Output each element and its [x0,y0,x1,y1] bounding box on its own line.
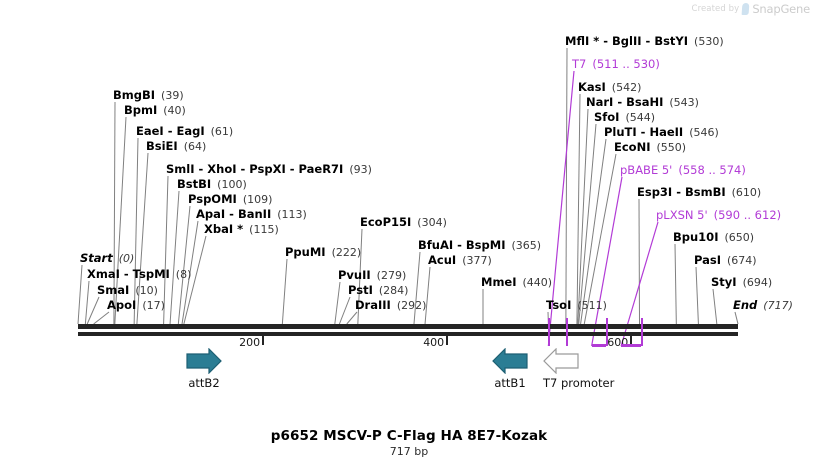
feature-range: (558 .. 574) [672,163,746,177]
enzyme-label[interactable]: TsoI(511) [546,299,607,312]
enzyme-name: BpmI [124,103,157,117]
axis-tick [262,336,264,345]
enzyme-label[interactable]: BsiEI(64) [146,140,206,153]
enzyme-position: (304) [411,216,447,229]
enzyme-label[interactable]: PasI(674) [694,254,757,267]
enzyme-label[interactable]: MflI * - BglII - BstYI(530) [565,35,724,48]
enzyme-label[interactable]: AcuI(377) [428,254,492,267]
enzyme-label[interactable]: EaeI - EagI(61) [136,125,233,138]
enzyme-name: XbaI * [204,222,243,236]
arrow-glyph-icon [543,348,579,374]
enzyme-position: (93) [343,163,372,176]
enzyme-label[interactable]: SmlI - XhoI - PspXI - PaeR7I(93) [166,163,372,176]
enzyme-name: ApoI [107,298,136,312]
feature-arrow-attb2[interactable]: attB2 [186,348,222,390]
enzyme-position: (17) [136,299,165,312]
enzyme-name: BstBI [177,177,211,191]
feature-arrow-label: attB2 [186,376,222,390]
enzyme-position: (377) [456,254,492,267]
enzyme-name: PluTI - HaeII [604,125,683,139]
feature-boundary-mark [606,318,608,346]
enzyme-name: MflI * - BglII - BstYI [565,34,688,48]
feature-label[interactable]: T7(511 .. 530) [572,58,660,70]
enzyme-label[interactable]: NarI - BsaHI(543) [586,96,699,109]
enzyme-position: (284) [373,284,409,297]
enzyme-position: (64) [178,140,207,153]
enzyme-name: PpuMI [285,245,326,259]
enzyme-name: EcoP15I [360,215,411,229]
enzyme-name: SmaI [97,283,129,297]
feature-range: (511 .. 530) [586,57,660,71]
enzyme-label[interactable]: ApaI - BanII(113) [196,208,307,221]
enzyme-name: Start [80,251,113,265]
enzyme-label[interactable]: EcoP15I(304) [360,216,447,229]
enzyme-name: TsoI [546,298,571,312]
enzyme-name: PasI [694,253,721,267]
feature-label[interactable]: pBABE 5'(558 .. 574) [620,164,746,176]
enzyme-position: (674) [721,254,757,267]
enzyme-name: NarI - BsaHI [586,95,663,109]
axis-tick-label: 200 [239,336,262,349]
feature-name: pLXSN 5' [656,208,708,222]
enzyme-position: (292) [391,299,427,312]
watermark-created-by-label: Created by [692,4,740,14]
enzyme-label[interactable]: PpuMI(222) [285,246,361,259]
enzyme-position: (546) [683,126,719,139]
feature-arrow-t7-promoter[interactable]: T7 promoter [543,348,614,390]
enzyme-position: (109) [237,193,273,206]
enzyme-position: (113) [271,208,307,221]
snapgene-watermark: Created by SnapGene [692,2,810,16]
enzyme-position: (61) [205,125,234,138]
enzyme-position: (550) [650,141,686,154]
enzyme-name: EcoNI [614,140,650,154]
enzyme-label[interactable]: SfoI(544) [594,111,655,124]
page-title: p6652 MSCV-P C-Flag HA 8E7-Kozak [0,428,818,444]
enzyme-label[interactable]: End(717) [733,299,793,312]
enzyme-name: KasI [578,80,606,94]
enzyme-label[interactable]: StyI(694) [711,276,772,289]
enzyme-position: (222) [326,246,362,259]
enzyme-name: End [733,298,757,312]
enzyme-name: AcuI [428,253,456,267]
enzyme-name: PstI [348,283,373,297]
page-subtitle: 717 bp [0,445,818,458]
arrow-glyph-icon [492,348,528,374]
enzyme-label[interactable]: SmaI(10) [97,284,158,297]
enzyme-name: EaeI - EagI [136,124,205,138]
enzyme-label[interactable]: DraIII(292) [355,299,426,312]
enzyme-label[interactable]: PspOMI(109) [188,193,272,206]
enzyme-label[interactable]: PluTI - HaeII(546) [604,126,719,139]
enzyme-name: MmeI [481,275,517,289]
enzyme-position: (544) [619,111,655,124]
enzyme-position: (115) [243,223,279,236]
enzyme-position: (0) [113,252,135,265]
enzyme-position: (279) [371,269,407,282]
enzyme-name: BfuAI - BspMI [418,238,505,252]
feature-range: (590 .. 612) [708,208,782,222]
enzyme-position: (650) [718,231,754,244]
enzyme-position: (8) [170,268,192,281]
feature-boundary-mark [566,318,568,346]
enzyme-name: BmgBI [113,88,155,102]
enzyme-label[interactable]: PstI(284) [348,284,408,297]
feature-label[interactable]: pLXSN 5'(590 .. 612) [656,209,781,221]
enzyme-label[interactable]: BfuAI - BspMI(365) [418,239,541,252]
enzyme-label[interactable]: XbaI *(115) [204,223,279,236]
sequence-backbone-lower [78,332,738,336]
enzyme-label[interactable]: XmaI - TspMI(8) [87,268,191,281]
enzyme-name: BsiEI [146,139,178,153]
enzyme-position: (610) [726,186,762,199]
enzyme-position: (543) [663,96,699,109]
sequence-backbone-upper [78,324,738,329]
enzyme-name: PspOMI [188,192,237,206]
enzyme-name: DraIII [355,298,391,312]
enzyme-position: (39) [155,89,184,102]
enzyme-label[interactable]: BpmI(40) [124,104,186,117]
enzyme-label[interactable]: MmeI(440) [481,276,552,289]
enzyme-label[interactable]: Start(0) [80,252,134,265]
axis-tick [446,336,448,345]
enzyme-label[interactable]: EcoNI(550) [614,141,686,154]
enzyme-label[interactable]: KasI(542) [578,81,641,94]
axis-tick-label: 400 [423,336,446,349]
enzyme-name: Esp3I - BsmBI [637,185,726,199]
enzyme-position: (100) [211,178,247,191]
enzyme-position: (694) [737,276,773,289]
arrow-glyph-icon [186,348,222,374]
enzyme-position: (717) [757,299,793,312]
enzyme-label[interactable]: BstBI(100) [177,178,247,191]
feature-arrow-label: attB1 [492,376,528,390]
watermark-brand-label: SnapGene [752,2,810,16]
enzyme-label[interactable]: BmgBI(39) [113,89,184,102]
enzyme-position: (440) [517,276,553,289]
enzyme-name: ApaI - BanII [196,207,271,221]
enzyme-name: StyI [711,275,737,289]
enzyme-position: (511) [571,299,607,312]
enzyme-label[interactable]: Esp3I - BsmBI(610) [637,186,761,199]
enzyme-position: (10) [129,284,158,297]
enzyme-name: XmaI - TspMI [87,267,170,281]
plasmid-map-canvas: Created by SnapGene BmgBI(39)BpmI(40)Eae… [0,0,818,468]
enzyme-label[interactable]: ApoI(17) [107,299,165,312]
enzyme-position: (542) [606,81,642,94]
feature-name: T7 [572,57,586,71]
enzyme-label[interactable]: Bpu10I(650) [673,231,754,244]
feature-arrow-attb1[interactable]: attB1 [492,348,528,390]
enzyme-label[interactable]: PvuII(279) [338,269,406,282]
feature-boundary-mark [641,318,643,346]
enzyme-name: PvuII [338,268,371,282]
enzyme-name: SmlI - XhoI - PspXI - PaeR7I [166,162,343,176]
feature-name: pBABE 5' [620,163,672,177]
snapgene-droplet-icon [742,3,750,15]
enzyme-position: (530) [688,35,724,48]
enzyme-name: SfoI [594,110,619,124]
feature-boundary-mark [548,318,550,346]
enzyme-position: (40) [157,104,186,117]
enzyme-position: (365) [505,239,541,252]
feature-arrow-label: T7 promoter [543,376,614,390]
feature-range-bar[interactable] [592,344,607,347]
feature-range-bar[interactable] [621,344,641,347]
enzyme-name: Bpu10I [673,230,718,244]
